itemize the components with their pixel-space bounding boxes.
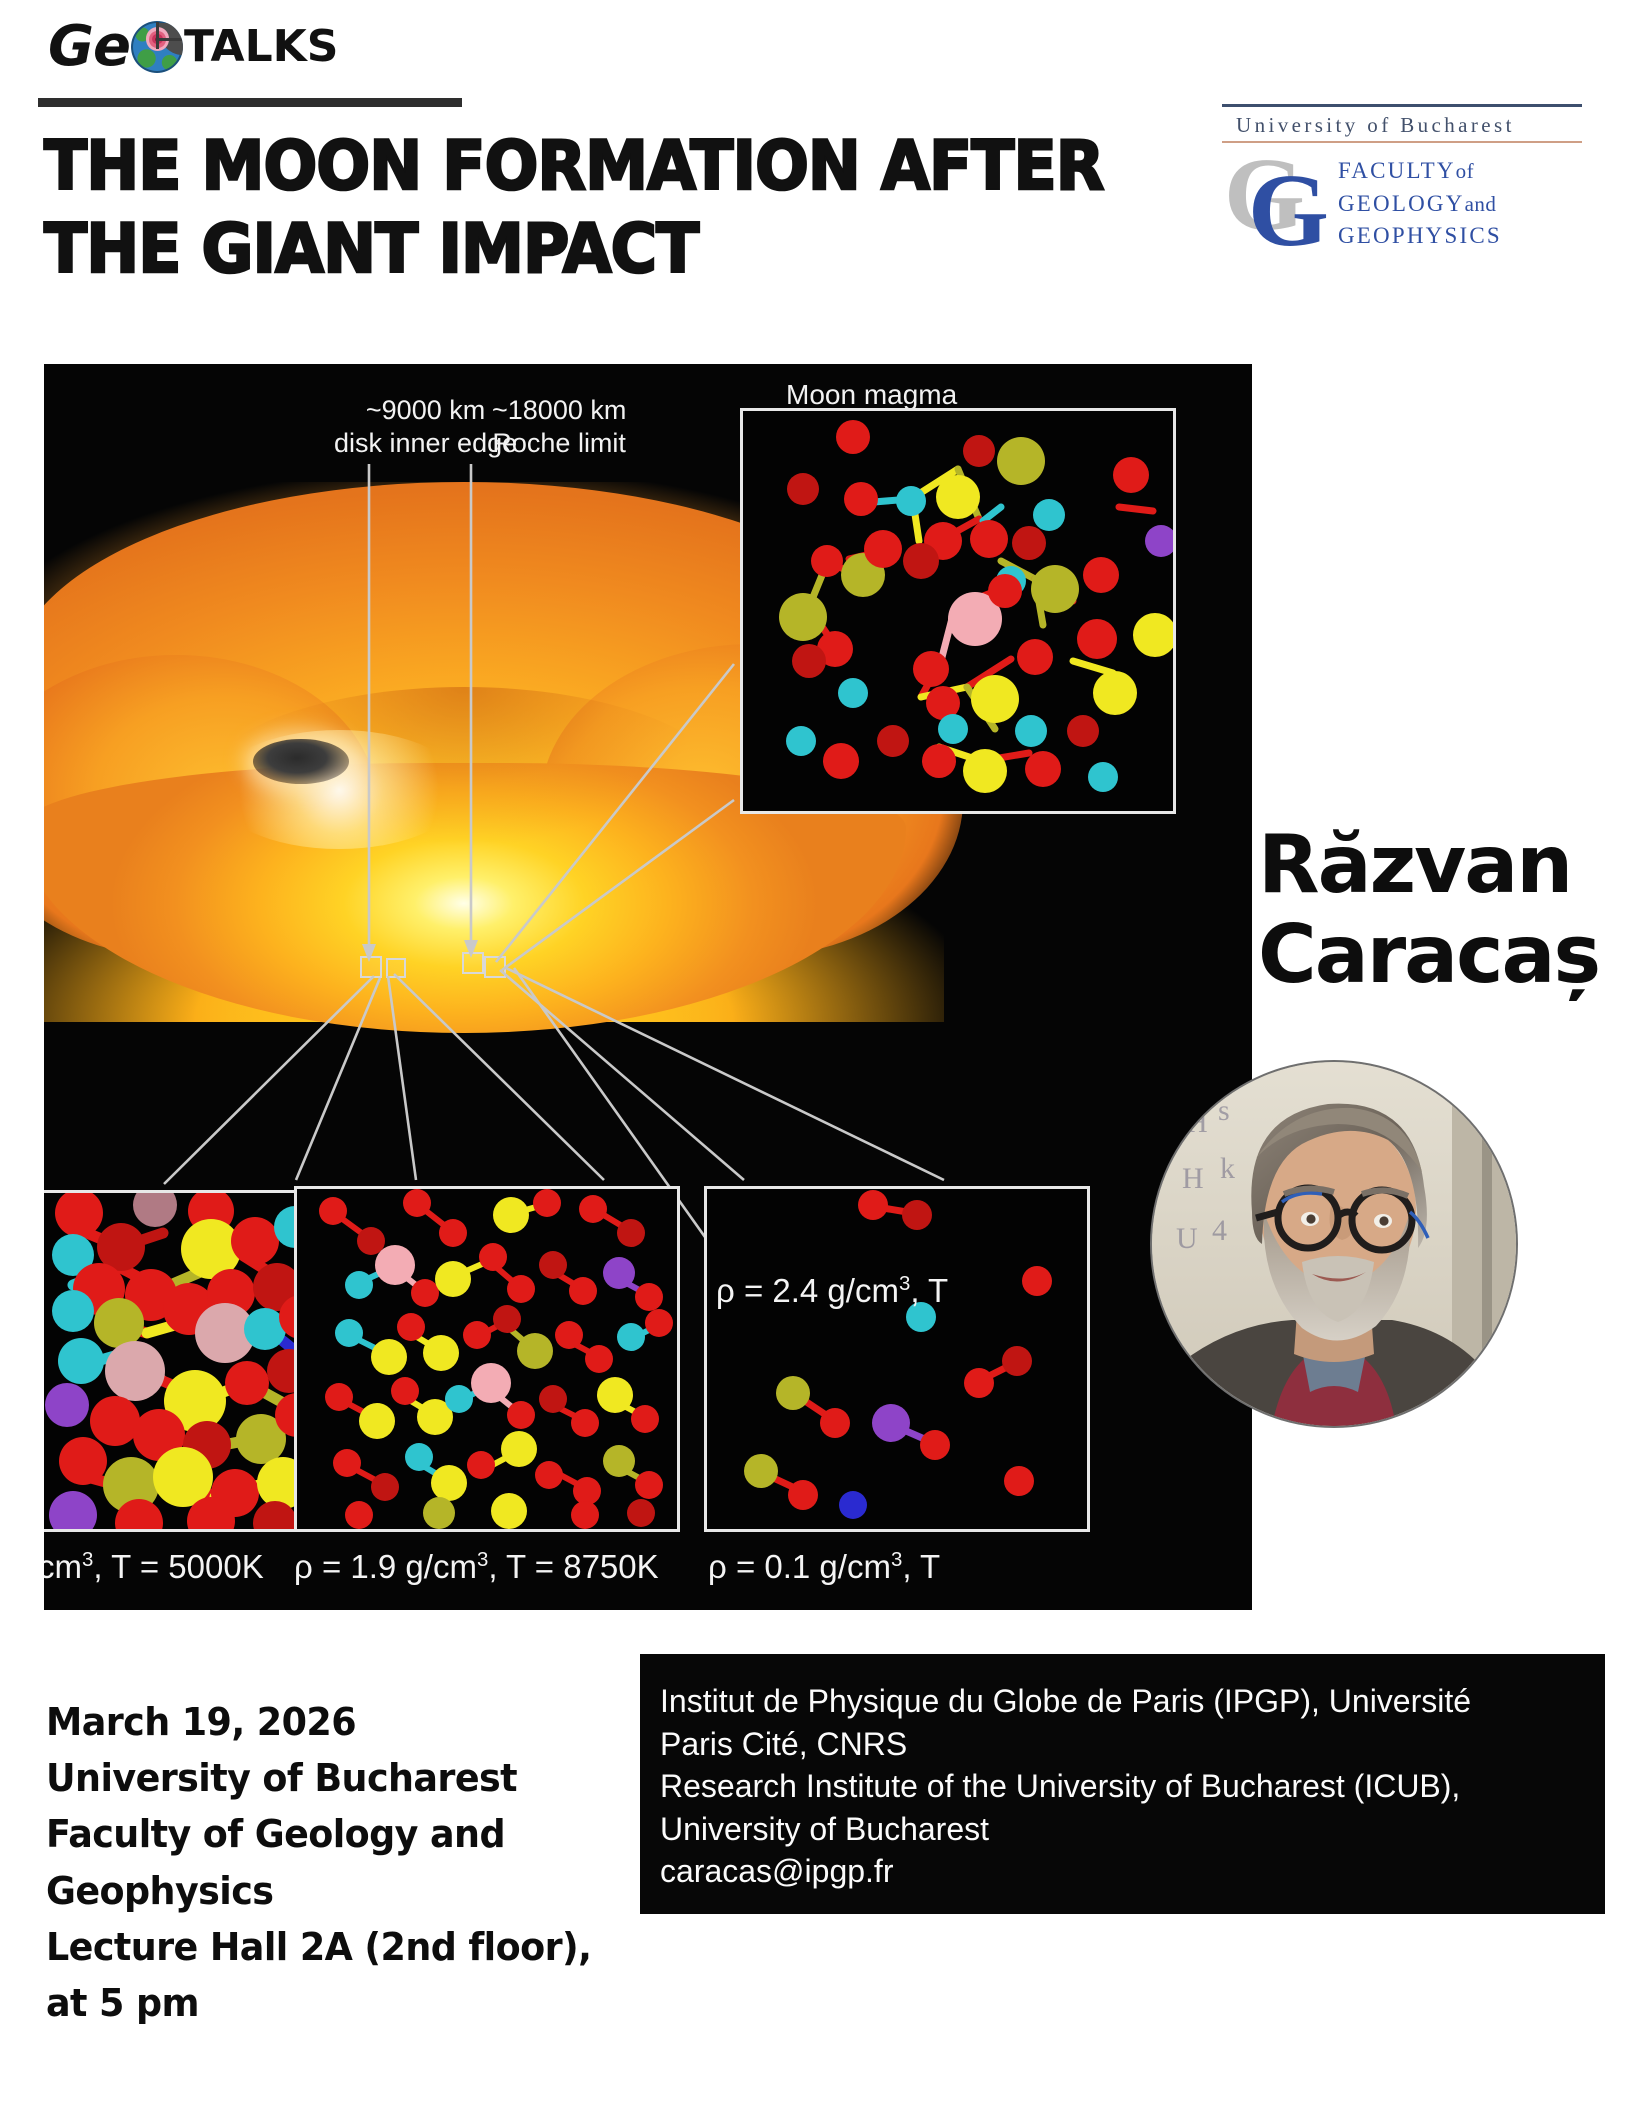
caption-moon-magma: ρ = 2.4 g/cm3, T bbox=[716, 1272, 948, 1310]
earth-globe-cutaway-icon bbox=[131, 21, 183, 73]
globe-axis-vertical bbox=[156, 22, 159, 49]
faculty-line-1: FACULTYof bbox=[1338, 155, 1502, 188]
caption-right-temp: , T bbox=[902, 1548, 940, 1585]
speaker-first-name: Răzvan bbox=[1258, 820, 1641, 910]
caption-left-exponent: 3 bbox=[82, 1548, 93, 1571]
caption-dense-liquid: cm3, T = 5000K bbox=[44, 1548, 264, 1586]
speaker-portrait-illustration: Hs Hk 4U bbox=[1152, 1062, 1516, 1426]
label-disk-inner-edge: ~9000 km disk inner edge bbox=[334, 394, 517, 460]
molecular-panel-vapour bbox=[704, 1186, 1090, 1532]
logo-word-talks: TALKS bbox=[184, 25, 338, 69]
event-details: March 19, 2026 University of Bucharest F… bbox=[46, 1694, 646, 2031]
disk-inner-edge-name: disk inner edge bbox=[334, 427, 517, 460]
logo-body: G G FACULTYof GEOLOGYand GEOPHYSICS bbox=[1222, 143, 1582, 253]
marker-box-roche bbox=[462, 952, 484, 974]
caption-left-density: cm bbox=[44, 1548, 82, 1585]
page-title: THE MOON FORMATION AFTER THE GIANT IMPAC… bbox=[44, 126, 924, 292]
affiliation-line-4: University of Bucharest bbox=[660, 1808, 1605, 1851]
speaker-affiliation: Institut de Physique du Globe de Paris (… bbox=[640, 1654, 1605, 1914]
molecular-panel-dense-liquid bbox=[44, 1190, 316, 1532]
university-name: University of Bucharest bbox=[1222, 107, 1582, 141]
molecular-panel-moon-magma bbox=[740, 408, 1176, 814]
faculty-line-2: GEOLOGYand bbox=[1338, 188, 1502, 221]
svg-text:4: 4 bbox=[1212, 1214, 1227, 1247]
gg-monogram-icon: G G bbox=[1222, 149, 1330, 253]
university-of-bucharest-logo: University of Bucharest G G FACULTYof GE… bbox=[1222, 104, 1582, 253]
caption-right-exponent: 3 bbox=[891, 1548, 902, 1571]
title-divider-rule bbox=[38, 98, 462, 107]
disk-inner-edge-value: ~9000 km bbox=[334, 394, 517, 427]
page-title-line-2: THE GIANT IMPACT bbox=[44, 209, 862, 292]
label-roche-limit: ~18000 km Roche limit bbox=[492, 394, 626, 460]
event-faculty: Faculty of Geology and bbox=[46, 1806, 622, 1862]
page-title-line-1: THE MOON FORMATION AFTER bbox=[44, 126, 862, 209]
caption-supercritical: ρ = 1.9 g/cm3, T = 8750K bbox=[294, 1548, 659, 1586]
roche-limit-value: ~18000 km bbox=[492, 394, 626, 427]
faculty-line-3: GEOPHYSICS bbox=[1338, 220, 1502, 253]
affiliation-line-1: Institut de Physique du Globe de Paris (… bbox=[660, 1680, 1605, 1723]
caption-vapour: ρ = 0.1 g/cm3, T bbox=[708, 1548, 940, 1586]
faculty-word-of: of bbox=[1456, 159, 1475, 183]
proto-earth-core bbox=[253, 739, 349, 784]
caption-magma-exponent: 3 bbox=[899, 1272, 910, 1295]
globe-axis-horizontal bbox=[156, 38, 182, 41]
speaker-name: Răzvan Caracaș bbox=[1258, 820, 1641, 999]
svg-text:k: k bbox=[1220, 1152, 1235, 1185]
event-faculty-continued: Geophysics bbox=[46, 1863, 622, 1919]
faculty-word-faculty: FACULTY bbox=[1338, 158, 1456, 183]
faculty-name: FACULTYof GEOLOGYand GEOPHYSICS bbox=[1330, 149, 1502, 253]
caption-magma-temp: , T bbox=[910, 1272, 948, 1309]
caption-middle-temp: , T = 8750K bbox=[488, 1548, 658, 1585]
md-snapshot-dense-liquid bbox=[44, 1193, 313, 1529]
roche-limit-name: Roche limit bbox=[492, 427, 626, 460]
event-venue: Lecture Hall 2A (2nd floor), bbox=[46, 1919, 622, 1975]
caption-middle-density: ρ = 1.9 g/cm bbox=[294, 1548, 477, 1585]
faculty-word-and: and bbox=[1465, 192, 1497, 216]
caption-right-density: ρ = 0.1 g/cm bbox=[708, 1548, 891, 1585]
md-snapshot-supercritical bbox=[297, 1189, 677, 1529]
event-time: at 5 pm bbox=[46, 1975, 622, 2031]
svg-text:H: H bbox=[1182, 1162, 1204, 1195]
caption-magma-density: ρ = 2.4 g/cm bbox=[716, 1272, 899, 1309]
marker-box-outer-disk bbox=[484, 956, 506, 978]
md-snapshot-vapour bbox=[707, 1189, 1087, 1529]
affiliation-line-3: Research Institute of the University of … bbox=[660, 1765, 1605, 1808]
caption-middle-exponent: 3 bbox=[477, 1548, 488, 1571]
faculty-word-geology: GEOLOGY bbox=[1338, 191, 1465, 216]
geotalks-logo: Ge TALKS bbox=[48, 14, 338, 80]
science-figure: ~9000 km disk inner edge ~18000 km Roche… bbox=[44, 364, 1252, 1610]
caption-left-temp: , T = 5000K bbox=[93, 1548, 263, 1585]
avatar: Hs Hk 4U bbox=[1152, 1062, 1516, 1426]
svg-text:U: U bbox=[1176, 1222, 1198, 1255]
molecular-panel-supercritical bbox=[294, 1186, 680, 1532]
affiliation-line-2: Paris Cité, CNRS bbox=[660, 1723, 1605, 1766]
marker-box-inner-edge bbox=[360, 956, 382, 978]
speaker-email[interactable]: caracas@ipgp.fr bbox=[660, 1850, 1605, 1893]
event-institution: University of Bucharest bbox=[46, 1750, 622, 1806]
event-date: March 19, 2026 bbox=[46, 1694, 622, 1750]
md-snapshot-moon-magma bbox=[743, 411, 1173, 811]
marker-box-inner-disk bbox=[386, 958, 406, 978]
monogram-letter-front: G bbox=[1248, 159, 1329, 263]
speaker-last-name: Caracaș bbox=[1258, 910, 1641, 1000]
logo-word-geo: Ge bbox=[48, 19, 130, 75]
